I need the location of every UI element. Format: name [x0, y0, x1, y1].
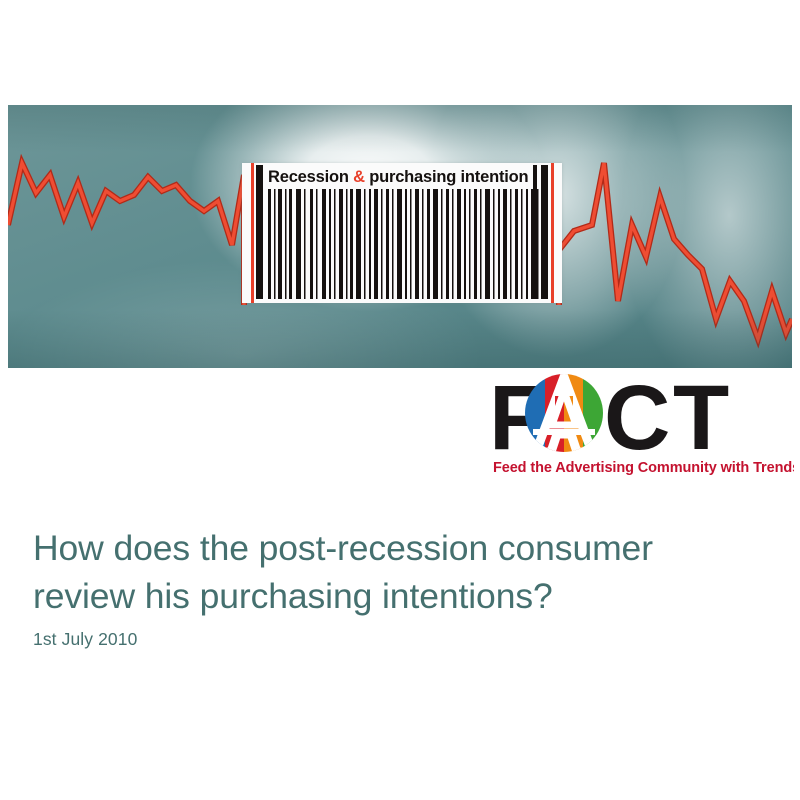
barcode-right-guard-bar [551, 163, 554, 303]
barcode-bars-svg [256, 189, 549, 299]
logo-letter-t: T [673, 373, 729, 469]
page-title: How does the post-recession consumer rev… [33, 524, 753, 620]
barcode-graphic: Recession & purchasing intention [242, 163, 562, 303]
logo-tagline: Feed the Advertising Community with Tren… [493, 460, 794, 476]
logo-a-crossbar-gap [533, 429, 595, 435]
logo-letter-c: C [604, 373, 670, 469]
barcode-left-guard-bar [251, 163, 254, 303]
trendline-right-edge [559, 163, 792, 339]
page-date: 1st July 2010 [33, 629, 137, 650]
barcode-title: Recession & purchasing intention [268, 168, 528, 187]
barcode-bars [256, 189, 549, 299]
barcode-title-ampersand: & [353, 168, 365, 186]
slide-canvas: Recession & purchasing intention [0, 0, 800, 800]
barcode-title-suffix: purchasing intention [365, 168, 529, 186]
trendline-right [559, 163, 792, 339]
trendline-left [8, 163, 244, 305]
logo-letter-a-colorwheel [525, 374, 604, 452]
fact-logo: F C T Feed the Advertising Community w [489, 373, 794, 478]
fact-logo-svg: F C T Feed the Advertising Community w [489, 373, 794, 478]
barcode-title-prefix: Recession [268, 168, 353, 186]
hero-banner: Recession & purchasing intention [8, 105, 792, 368]
